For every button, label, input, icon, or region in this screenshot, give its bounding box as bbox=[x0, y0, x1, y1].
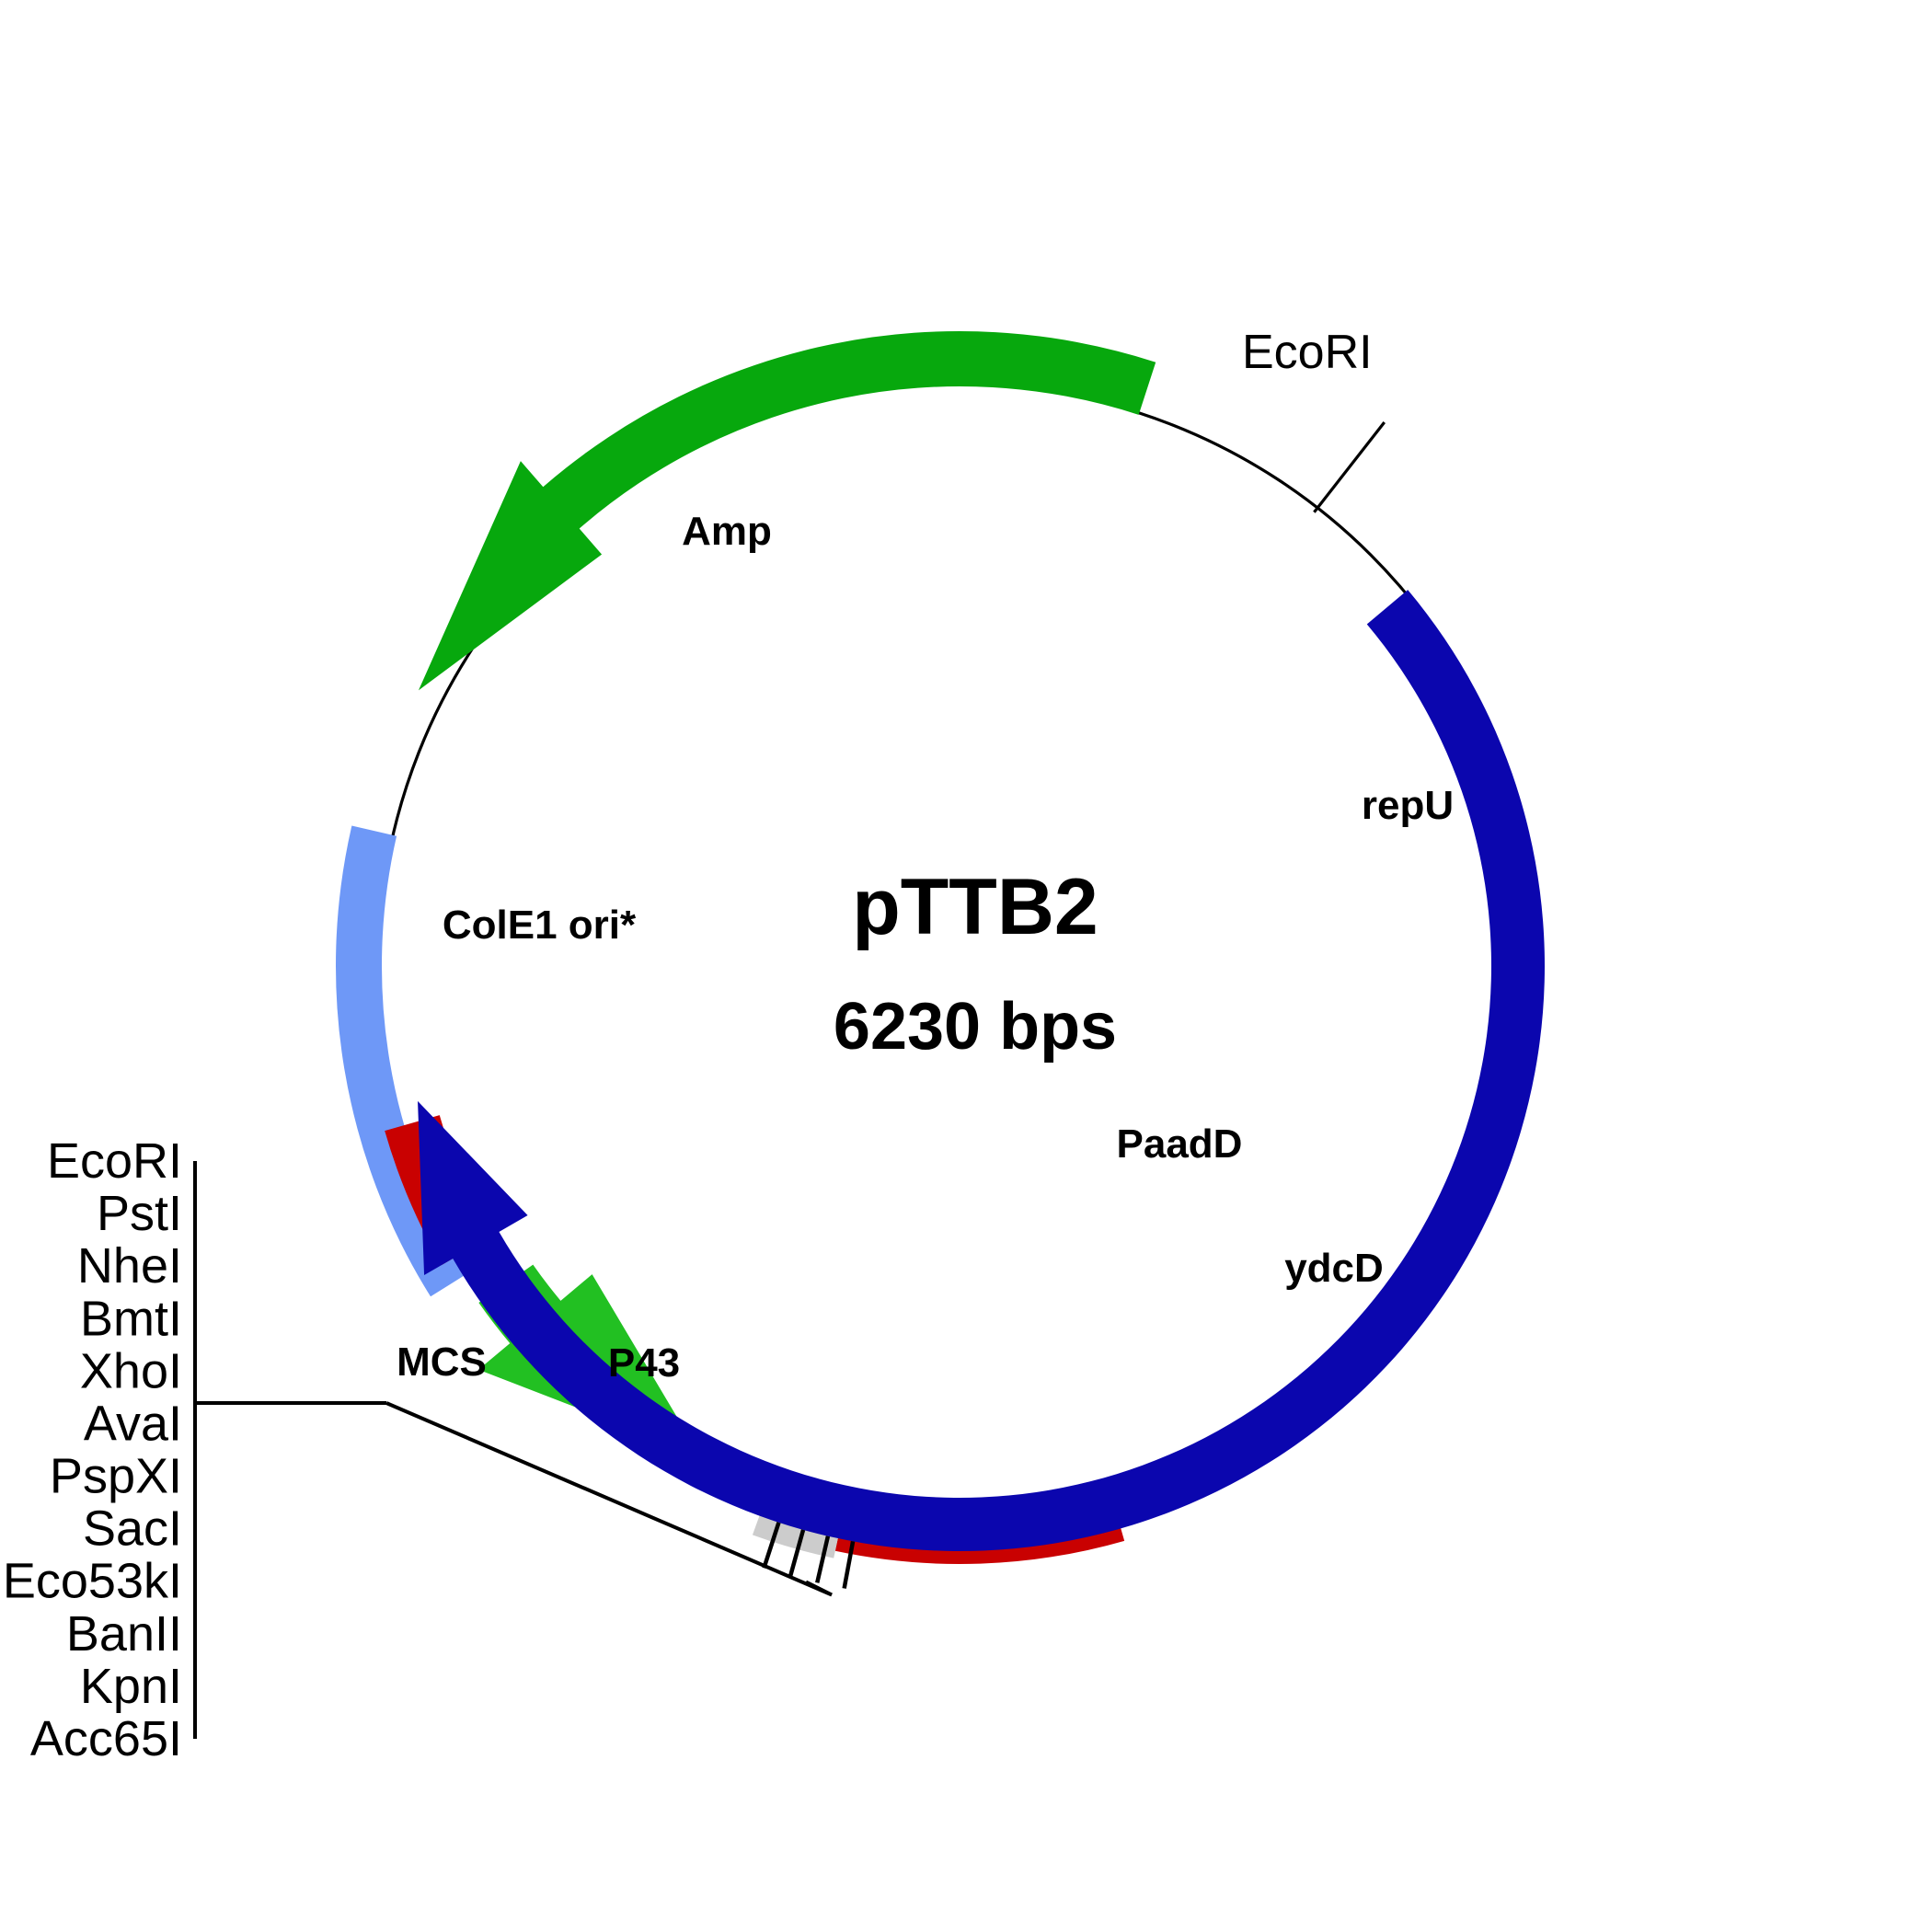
enzyme-label-bmti: BmtI bbox=[80, 1291, 182, 1346]
enzyme-label-list: EcoRIPstINheIBmtIXhoIAvaIPspXISacIEco53k… bbox=[3, 1133, 182, 1766]
plasmid-map-figure: EcoRIPstINheIBmtIXhoIAvaIPspXISacIEco53k… bbox=[0, 0, 1932, 1932]
feature-label-amp: Amp bbox=[682, 509, 772, 554]
feature-label-mcs: MCS bbox=[397, 1340, 487, 1385]
feature-label-paadd: PaadD bbox=[1117, 1121, 1243, 1167]
plasmid-map-canvas: EcoRIPstINheIBmtIXhoIAvaIPspXISacIEco53k… bbox=[0, 0, 1932, 1932]
enzyme-label-eco53ki: Eco53kI bbox=[3, 1554, 182, 1609]
enzyme-label-ecori: EcoRI bbox=[47, 1133, 182, 1189]
plasmid-name-title: pTTB2 bbox=[852, 863, 1098, 951]
feature-label-repu: repU bbox=[1362, 783, 1454, 828]
feature-label-cole1-ori: ColE1 ori* bbox=[443, 903, 637, 948]
feature-label-ydcd: ydcD bbox=[1284, 1246, 1384, 1291]
site-label-ecori: EcoRI bbox=[1242, 326, 1373, 379]
feature-label-p43: P43 bbox=[608, 1340, 680, 1386]
enzyme-label-psti: PstI bbox=[97, 1186, 182, 1241]
ecori-site-tick bbox=[1314, 422, 1384, 512]
enzyme-label-kpni: KpnI bbox=[80, 1659, 182, 1714]
enzyme-label-saci: SacI bbox=[83, 1501, 182, 1557]
plasmid-size-label: 6230 bps bbox=[834, 990, 1117, 1064]
enzyme-label-avai: AvaI bbox=[84, 1396, 182, 1451]
enzyme-label-xhoi: XhoI bbox=[80, 1343, 182, 1398]
enzyme-label-pspxi: PspXI bbox=[50, 1449, 182, 1504]
enzyme-label-nhei: NheI bbox=[77, 1238, 182, 1294]
enzyme-label-banii: BanII bbox=[66, 1606, 182, 1662]
feature-repu bbox=[418, 590, 1545, 1551]
enzyme-label-acc65i: Acc65I bbox=[30, 1711, 182, 1766]
feature-amp bbox=[419, 331, 1156, 690]
